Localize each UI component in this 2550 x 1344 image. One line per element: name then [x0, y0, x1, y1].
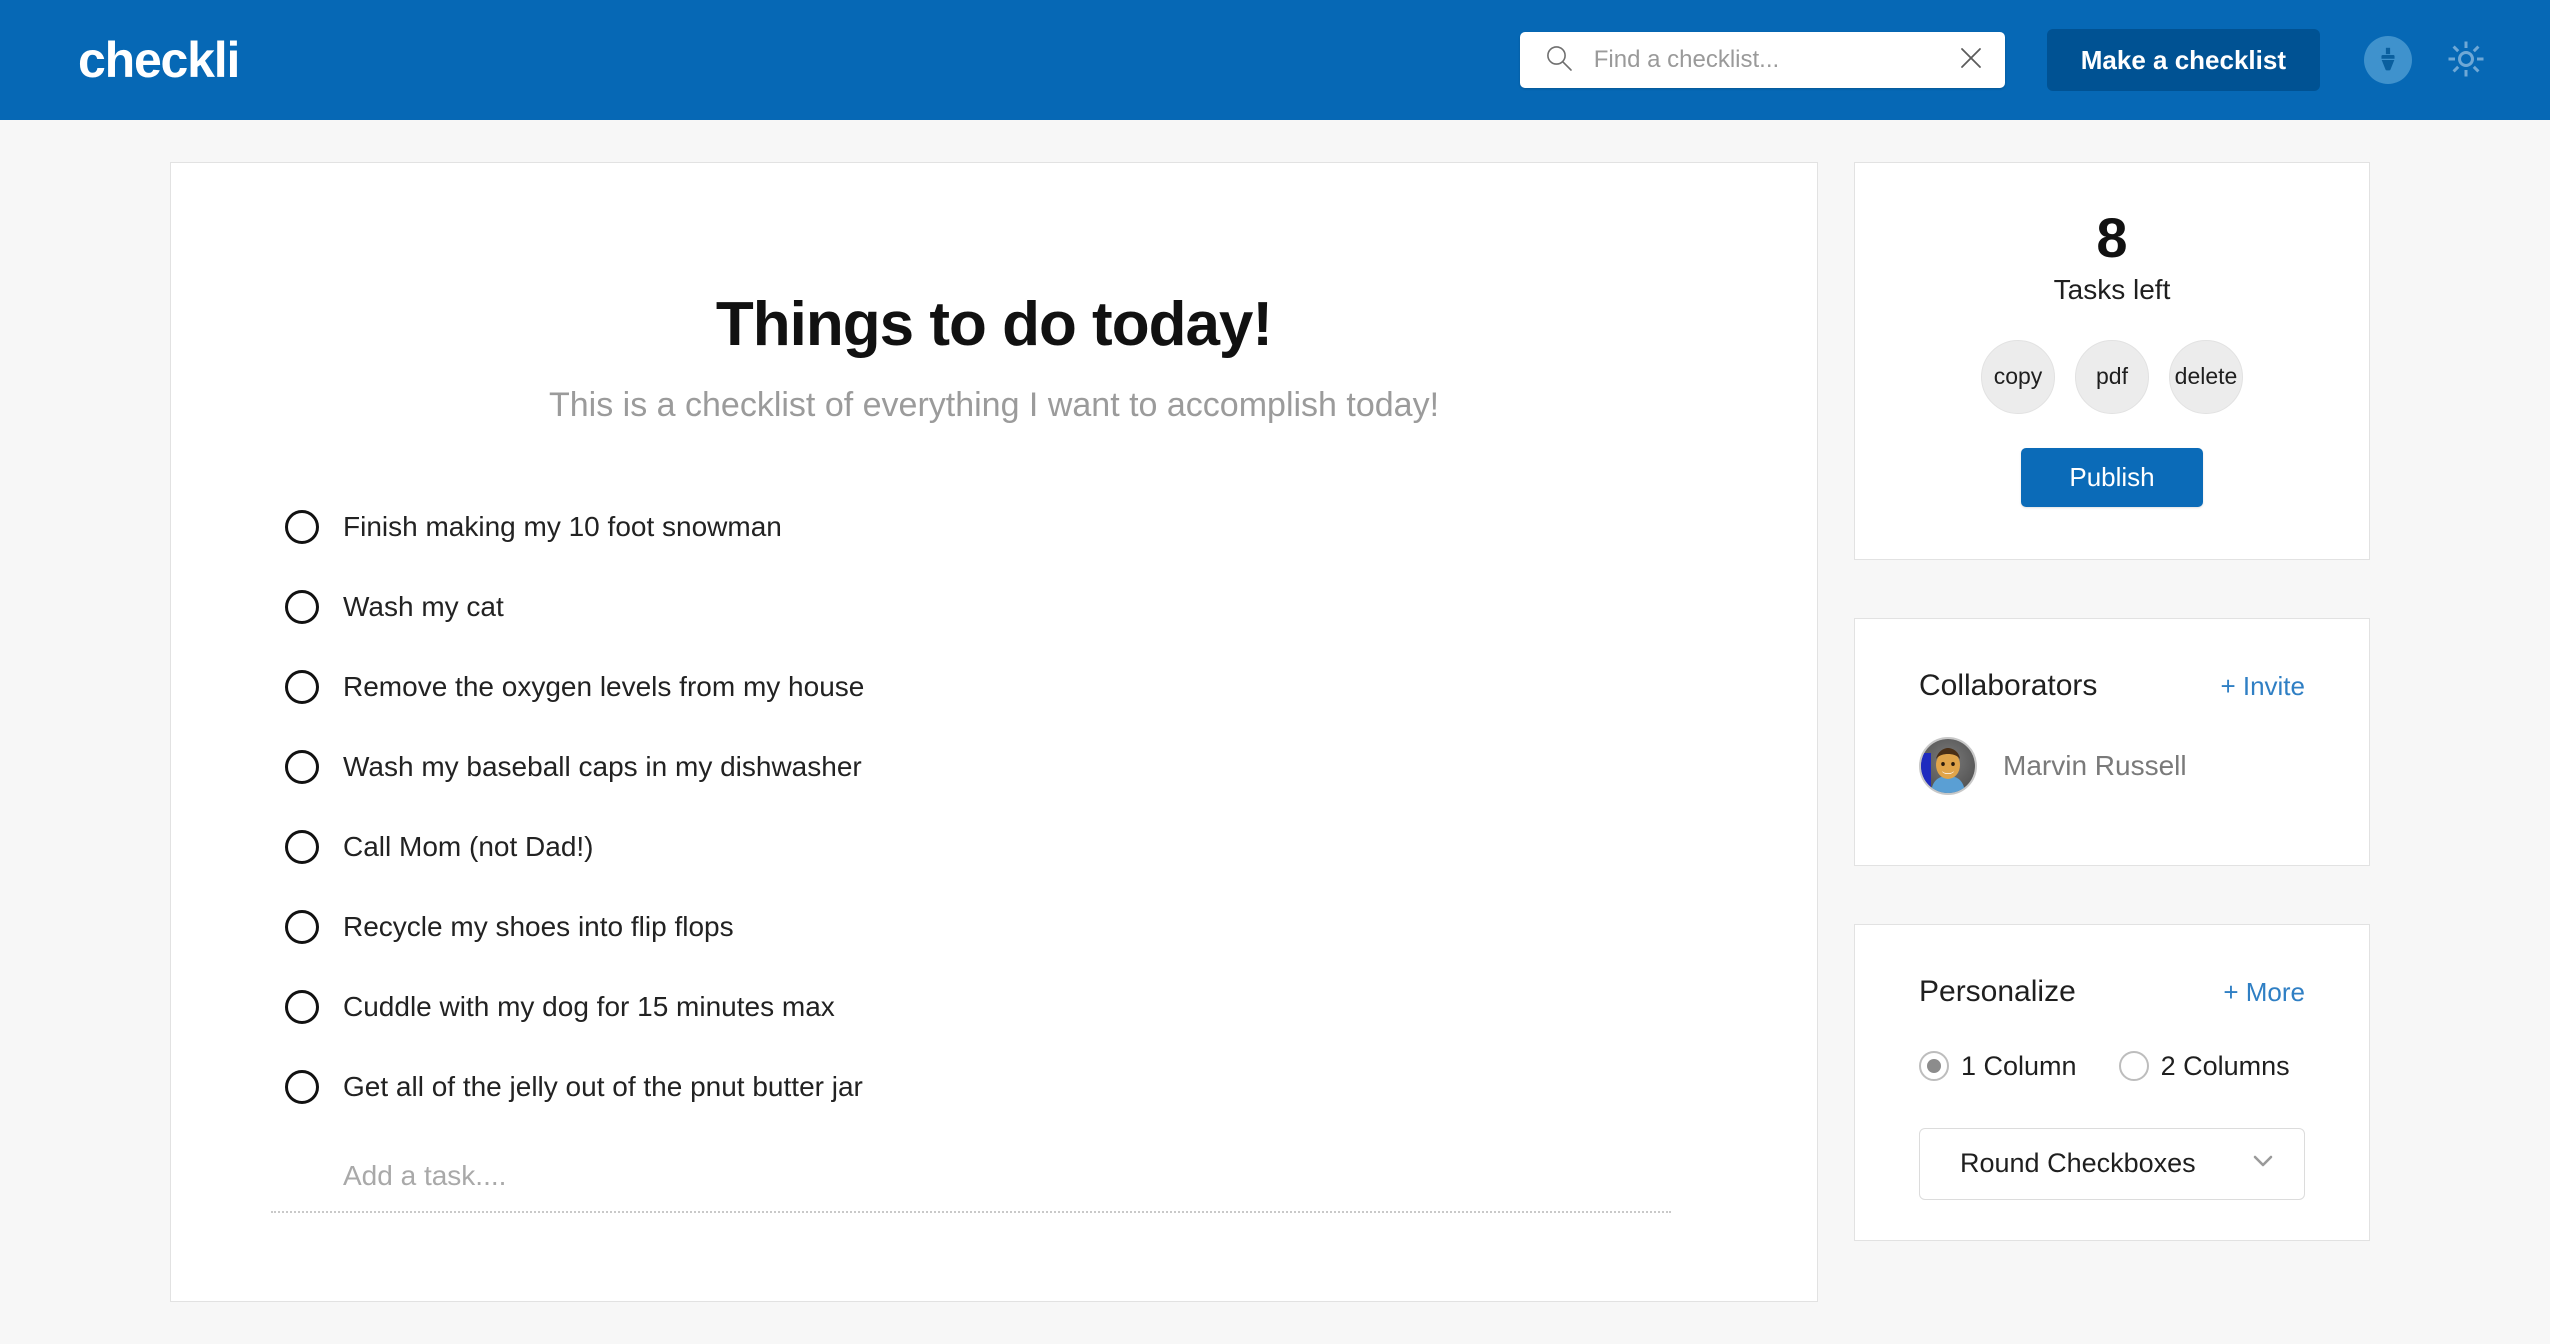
copy-button[interactable]: copy [1981, 340, 2055, 414]
task-row[interactable]: Cuddle with my dog for 15 minutes max [285, 967, 1717, 1047]
page-body: Things to do today! This is a checklist … [0, 120, 2550, 1302]
personalize-header: Personalize + More [1919, 975, 2305, 1009]
invite-link[interactable]: + Invite [2220, 671, 2305, 702]
list-item[interactable]: Marvin Russell [1919, 737, 2305, 795]
task-checkbox[interactable] [285, 830, 319, 864]
task-checkbox[interactable] [285, 590, 319, 624]
task-label[interactable]: Finish making my 10 foot snowman [343, 511, 782, 543]
task-label[interactable]: Wash my cat [343, 591, 504, 623]
search-icon [1544, 43, 1574, 78]
column-layout-options: 1 Column 2 Columns [1919, 1051, 2305, 1082]
search-box[interactable] [1520, 32, 2005, 88]
task-checkbox[interactable] [285, 910, 319, 944]
radio-dot-icon[interactable] [1919, 1051, 1949, 1081]
close-icon[interactable] [1957, 44, 1985, 77]
task-label[interactable]: Recycle my shoes into flip flops [343, 911, 734, 943]
checklist-subtitle[interactable]: This is a checklist of everything I want… [271, 386, 1717, 425]
delete-button[interactable]: delete [2169, 340, 2243, 414]
action-buttons: copy pdf delete [1855, 340, 2369, 414]
publish-button[interactable]: Publish [2021, 448, 2202, 507]
more-link[interactable]: + More [2223, 977, 2305, 1008]
collaborators-title: Collaborators [1919, 669, 2097, 703]
task-row[interactable]: Wash my baseball caps in my dishwasher [285, 727, 1717, 807]
task-checkbox[interactable] [285, 1070, 319, 1104]
checkbox-style-select[interactable]: Round Checkboxes [1919, 1128, 2305, 1200]
radio-dot-icon[interactable] [2119, 1051, 2149, 1081]
avatar [1919, 737, 1977, 795]
tasks-left-label: Tasks left [1855, 274, 2369, 306]
task-row[interactable]: Call Mom (not Dad!) [285, 807, 1717, 887]
pdf-button[interactable]: pdf [2075, 340, 2149, 414]
task-label[interactable]: Get all of the jelly out of the pnut but… [343, 1071, 863, 1103]
make-checklist-button[interactable]: Make a checklist [2047, 29, 2320, 91]
gear-icon-button[interactable] [2442, 36, 2490, 84]
personalize-title: Personalize [1919, 975, 2076, 1009]
header-actions: Make a checklist [1520, 29, 2490, 91]
task-row[interactable]: Recycle my shoes into flip flops [285, 887, 1717, 967]
task-checkbox[interactable] [285, 510, 319, 544]
stats-panel: 8 Tasks left copy pdf delete Publish [1854, 162, 2370, 560]
radio-two-columns[interactable]: 2 Columns [2119, 1051, 2290, 1082]
radio-one-column[interactable]: 1 Column [1919, 1051, 2077, 1082]
task-row[interactable]: Finish making my 10 foot snowman [285, 487, 1717, 567]
brush-icon [2374, 45, 2402, 76]
task-label[interactable]: Call Mom (not Dad!) [343, 831, 594, 863]
radio-two-columns-label: 2 Columns [2161, 1051, 2290, 1082]
task-label[interactable]: Cuddle with my dog for 15 minutes max [343, 991, 835, 1023]
brand-logo[interactable]: checkli [78, 35, 239, 85]
task-list: Finish making my 10 foot snowman Wash my… [271, 487, 1717, 1127]
personalize-panel: Personalize + More 1 Column 2 Columns Ro… [1854, 924, 2370, 1241]
chevron-down-icon[interactable] [2248, 1146, 2278, 1181]
task-label[interactable]: Wash my baseball caps in my dishwasher [343, 751, 862, 783]
collaborators-panel: Collaborators + Invite [1854, 618, 2370, 866]
sidebar: 8 Tasks left copy pdf delete Publish Col… [1854, 162, 2370, 1241]
task-checkbox[interactable] [285, 990, 319, 1024]
task-row[interactable]: Get all of the jelly out of the pnut but… [285, 1047, 1717, 1127]
app-header: checkli Make a checklist [0, 0, 2550, 120]
radio-one-column-label: 1 Column [1961, 1051, 2077, 1082]
task-checkbox[interactable] [285, 750, 319, 784]
add-task-input[interactable] [343, 1160, 1671, 1192]
brush-icon-button[interactable] [2364, 36, 2412, 84]
gear-icon [2444, 37, 2488, 84]
task-checkbox[interactable] [285, 670, 319, 704]
task-label[interactable]: Remove the oxygen levels from my house [343, 671, 864, 703]
add-task-row[interactable] [271, 1151, 1671, 1213]
checklist-card: Things to do today! This is a checklist … [170, 162, 1818, 1302]
task-row[interactable]: Remove the oxygen levels from my house [285, 647, 1717, 727]
search-input[interactable] [1594, 46, 1957, 74]
collaborators-header: Collaborators + Invite [1919, 669, 2305, 703]
collaborator-name: Marvin Russell [2003, 750, 2187, 782]
tasks-left-count: 8 [1855, 209, 2369, 268]
checklist-title[interactable]: Things to do today! [271, 289, 1717, 360]
checkbox-style-value: Round Checkboxes [1960, 1148, 2196, 1179]
task-row[interactable]: Wash my cat [285, 567, 1717, 647]
